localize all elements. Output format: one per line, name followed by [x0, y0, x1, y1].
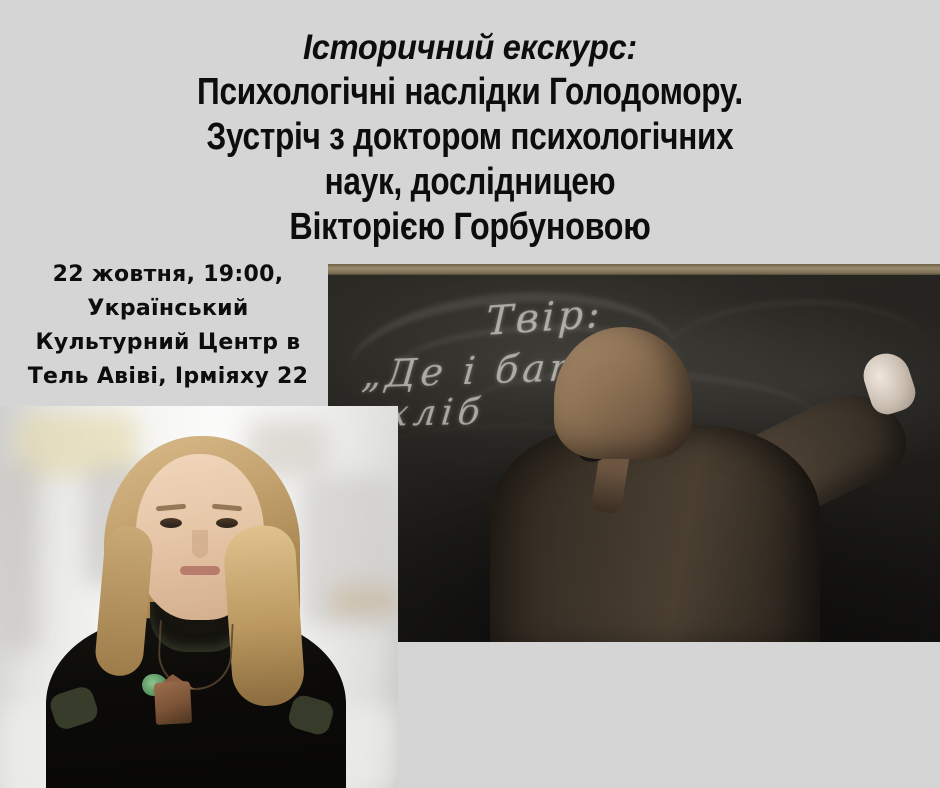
title-line-4: наук, дослідницею: [80, 160, 860, 205]
title-line-3: Зустріч з доктором психологічних: [80, 115, 860, 160]
details-line-venue-1: Український: [8, 292, 328, 326]
title-line-2: Психологічні наслідки Голодомору.: [80, 70, 860, 115]
chalkboard-surface: Твір: „Де і батьки хліб: [328, 275, 940, 642]
page-title: Історичний екскурс: Психологічні наслідк…: [0, 26, 940, 250]
details-line-venue-2: Культурний Центр в: [8, 326, 328, 360]
event-details: 22 жовтня, 19:00, Український Культурний…: [8, 258, 328, 394]
figure-headscarf: [554, 327, 692, 459]
portrait-bokeh: [0, 462, 40, 652]
title-line-1: Історичний екскурс:: [33, 26, 907, 70]
details-line-address: Тель Авіві, Ірміяху 22: [8, 360, 328, 394]
portrait-eye-left: [160, 518, 182, 528]
portrait-pendant-house: [154, 681, 192, 725]
portrait-nose: [192, 530, 208, 558]
portrait-bokeh: [330, 586, 398, 616]
chalkboard-photo: Твір: „Де і батьки хліб: [328, 264, 940, 642]
title-line-5: Вікторією Горбуновою: [71, 205, 870, 250]
portrait-mouth: [180, 566, 220, 575]
details-line-datetime: 22 жовтня, 19:00,: [8, 258, 328, 292]
poster-canvas: Історичний екскурс: Психологічні наслідк…: [0, 0, 940, 788]
portrait-eye-right: [216, 518, 238, 528]
background-filler: [328, 642, 940, 788]
speaker-portrait-photo: [0, 406, 398, 788]
portrait-hair-strand-right: [222, 524, 306, 709]
woman-at-chalkboard: [328, 275, 940, 642]
